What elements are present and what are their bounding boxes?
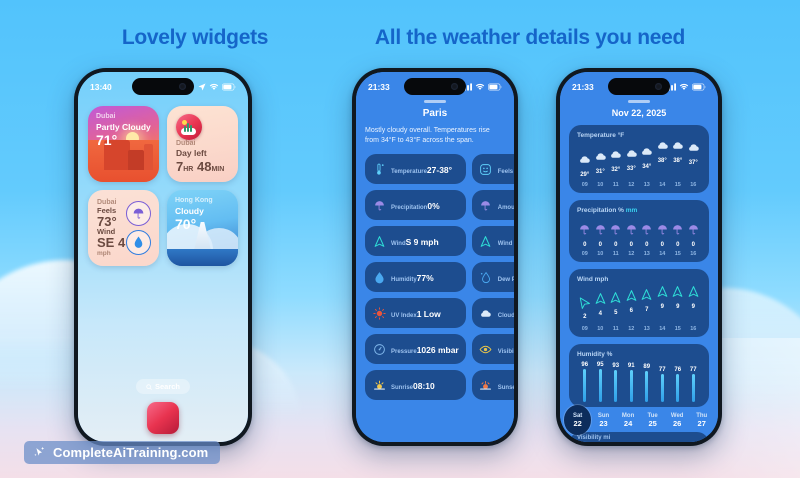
chart-value: 9 <box>692 304 695 310</box>
widget-grid: Dubai Partly Cloudy 71° Dubai <box>88 106 238 266</box>
detail-card[interactable]: Cloud Cover79% <box>472 298 514 328</box>
sparkle-cursor-icon <box>32 445 47 460</box>
detail-card[interactable]: Visibility23 mi <box>472 334 514 364</box>
chart-point: 7 <box>639 288 655 313</box>
umbrella-icon <box>578 223 591 241</box>
desert-butte <box>128 150 144 170</box>
widget-value: 7HR 48MIN <box>176 159 224 174</box>
chart-point: 29° <box>577 153 593 178</box>
phone-weather-charts: 21:33 Nov 22, 2025 Temperature °F 29° 31… <box>556 68 722 446</box>
day-number: 22 <box>573 419 581 428</box>
chart-hour-axis: 0910111213141516 <box>577 326 701 332</box>
chart-point: 38° <box>670 139 686 164</box>
search-icon <box>146 384 152 390</box>
detail-card-label: Temperature <box>391 169 427 175</box>
day-chip-selected[interactable]: Sat22 <box>564 405 591 435</box>
detail-card-value: 0% <box>427 201 439 211</box>
chart-bar: 95 <box>593 362 609 402</box>
cloud-icon <box>656 139 669 157</box>
hour-tick: 15 <box>670 182 686 188</box>
chart-bar: 89 <box>639 364 655 402</box>
chart-bar: 77 <box>686 367 702 402</box>
detail-card-label: Wind <box>391 241 406 247</box>
detail-card-label: Wind Gust <box>498 241 514 247</box>
day-chip[interactable]: Thu27 <box>689 407 714 434</box>
hour-tick: 13 <box>639 182 655 188</box>
detail-card[interactable]: Temperature27-38° <box>365 154 466 184</box>
day-number: 25 <box>648 419 656 428</box>
chart-bar: 77 <box>655 367 671 402</box>
detail-card[interactable]: Sunset17:03 <box>472 370 514 400</box>
cloud-icon <box>625 147 638 165</box>
precipitation-panel[interactable]: Precipitation % mm 0 0 0 0 0 0 <box>569 200 709 262</box>
eye-icon <box>479 342 493 356</box>
detail-card-label: Cloud Cover <box>498 313 514 319</box>
sheet-grabber[interactable] <box>424 100 446 103</box>
widget-city: Dubai <box>96 113 115 120</box>
chart-value: 32° <box>611 167 620 173</box>
chart-point: 6 <box>624 289 640 314</box>
panel-title: Humidity % <box>577 351 701 358</box>
chart-point: 38° <box>655 139 671 164</box>
chart-value: 77 <box>659 367 666 373</box>
battery-icon <box>692 83 706 91</box>
chart-value: 0 <box>599 242 602 248</box>
watermark-text: CompleteAiTraining.com <box>53 445 208 460</box>
gauge-icon <box>372 342 386 356</box>
chart-value: 31° <box>596 169 605 175</box>
chart-point: 4 <box>593 292 609 317</box>
hour-tick: 14 <box>655 182 671 188</box>
wind-arrow-icon <box>594 292 607 310</box>
phone-weather-details: 21:33 Paris Mostly cloudy overall. Tempe… <box>352 68 518 446</box>
chart-value: 89 <box>643 364 650 370</box>
chart-value: 7 <box>645 307 648 313</box>
city-title: Paris <box>365 108 505 119</box>
chart-value: 0 <box>676 242 679 248</box>
chart-bar: 76 <box>670 367 686 402</box>
cloud-icon <box>687 141 700 159</box>
detail-card-label: Feels Like <box>498 169 514 175</box>
widget-dubai-feels-wind[interactable]: Dubai Feels 73° Wind SE 4 mph <box>88 190 159 266</box>
hour-tick: 14 <box>655 326 671 332</box>
chart-point: 0 <box>639 223 655 248</box>
sea-shape <box>167 249 238 266</box>
day-left-minutes: 48 <box>197 159 211 174</box>
detail-card-label: UV Index <box>391 313 417 319</box>
status-time: 13:40 <box>90 82 112 92</box>
chart-value: 38° <box>658 158 667 164</box>
weather-summary: Mostly cloudy overall. Temperatures rise… <box>365 126 505 146</box>
chart-value: 34° <box>642 164 651 170</box>
hour-tick: 16 <box>686 251 702 257</box>
cloud-icon <box>671 139 684 157</box>
umbrella-icon <box>594 223 607 241</box>
sheet-grabber[interactable] <box>628 100 650 103</box>
location-icon <box>198 83 206 91</box>
day-left-hours-unit: HR <box>183 166 193 173</box>
hour-tick: 12 <box>624 251 640 257</box>
chart-hour-axis: 0910111213141516 <box>577 251 701 257</box>
chart-value: 0 <box>645 242 648 248</box>
chart-point: 33° <box>624 147 640 172</box>
chart-value: 96 <box>581 362 588 368</box>
chart-point: 34° <box>639 145 655 170</box>
app-icon <box>176 114 202 140</box>
wind-arrow-icon <box>479 234 493 248</box>
dynamic-island <box>132 78 194 95</box>
dynamic-island <box>608 78 670 95</box>
chart-value: 91 <box>628 363 635 369</box>
chart-value: 9 <box>661 304 664 310</box>
chart-point: 0 <box>670 223 686 248</box>
day-number: 27 <box>698 419 706 428</box>
date-title: Nov 22, 2025 <box>569 108 709 118</box>
detail-card[interactable]: Wind GustS 18 mph <box>472 226 514 256</box>
detail-card[interactable]: WindS 9 mph <box>365 226 466 256</box>
stat-value: SE 4 <box>97 236 125 250</box>
chart-value: 4 <box>599 311 602 317</box>
sun-uv-icon <box>372 306 386 320</box>
detail-card-value: 27-38° <box>427 165 452 175</box>
chart-point: 32° <box>608 148 624 173</box>
chart-bar: 96 <box>577 362 593 402</box>
chart-bar: 91 <box>624 363 640 402</box>
detail-card-grid: Temperature27-38°Feels Like31°Precipitat… <box>365 154 505 400</box>
panel-title-highlight: mm <box>626 207 638 214</box>
cloud-icon <box>594 150 607 168</box>
dock-weather-app-icon[interactable] <box>147 402 179 434</box>
heading-left: Lovely widgets <box>60 26 330 50</box>
widget-dubai-partly-cloudy[interactable]: Dubai Partly Cloudy 71° <box>88 106 159 182</box>
wind-arrow-icon <box>372 234 386 248</box>
hour-tick: 10 <box>593 251 609 257</box>
dew-drop-icon <box>479 270 493 284</box>
widget-condition: Partly Cloudy <box>96 122 151 132</box>
chart-value: 95 <box>597 362 604 368</box>
umbrella-icon <box>479 198 493 212</box>
umbrella-icon <box>671 223 684 241</box>
sunrise-icon <box>372 378 386 392</box>
umbrella-icon <box>609 223 622 241</box>
chart-value: 76 <box>674 367 681 373</box>
hour-tick: 16 <box>686 326 702 332</box>
chart-value: 0 <box>583 242 586 248</box>
detail-card-value: 1 Low <box>417 309 441 319</box>
hour-tick: 09 <box>577 182 593 188</box>
search-pill[interactable]: Search <box>136 379 190 394</box>
cloud-icon <box>479 306 493 320</box>
panel-title: Wind mph <box>577 276 701 283</box>
wifi-icon <box>679 83 689 91</box>
day-left-minutes-unit: MIN <box>211 166 224 173</box>
day-chip[interactable]: Mon24 <box>616 407 641 434</box>
detail-card-label: Sunrise <box>391 385 413 391</box>
cloud-icon <box>609 148 622 166</box>
dynamic-island <box>404 78 466 95</box>
chart-point: 5 <box>608 291 624 316</box>
hour-tick: 14 <box>655 251 671 257</box>
chart-point: 37° <box>686 141 702 166</box>
umbrella-icon <box>126 201 151 226</box>
water-drop-icon <box>372 270 386 284</box>
day-chip[interactable]: Tue25 <box>640 407 665 434</box>
stat-unit: mph <box>97 250 125 257</box>
chart-value: 77 <box>690 367 697 373</box>
detail-card-value: 08:10 <box>413 381 435 391</box>
wifi-icon <box>475 83 485 91</box>
umbrella-icon <box>687 223 700 241</box>
chart-value: 29° <box>580 172 589 178</box>
battery-icon <box>488 83 502 91</box>
chart-point: 9 <box>670 285 686 310</box>
hour-tick: 10 <box>593 182 609 188</box>
chart-point: 0 <box>577 223 593 248</box>
chart-point: 0 <box>608 223 624 248</box>
hour-tick: 12 <box>624 182 640 188</box>
hour-tick: 11 <box>608 326 624 332</box>
umbrella-icon <box>625 223 638 241</box>
chart-value: 93 <box>612 363 619 369</box>
day-number: 26 <box>673 419 681 428</box>
widget-condition: Cloudy <box>175 206 204 216</box>
wind-arrow-icon <box>656 285 669 303</box>
detail-card-label: Pressure <box>391 349 417 355</box>
chart-point: 2 <box>577 295 593 320</box>
panel-title: Precipitation % mm <box>577 207 701 214</box>
detail-card[interactable]: UV Index1 Low <box>365 298 466 328</box>
wind-arrow-icon <box>609 291 622 309</box>
phone-home-screen: 13:40 Dubai Partly Cloudy 71° <box>74 68 252 446</box>
chart-point: 0 <box>593 223 609 248</box>
hour-tick: 09 <box>577 251 593 257</box>
chart-panel-list: Temperature °F 29° 31° 32° 33° 34° 38° <box>569 125 709 407</box>
widget-temperature: 70° <box>175 216 196 232</box>
chart-value: 33° <box>627 166 636 172</box>
wind-panel[interactable]: Wind mph 2 4 5 6 7 9 9 <box>569 269 709 337</box>
detail-card[interactable]: Amount0 mm <box>472 190 514 220</box>
day-number: 23 <box>599 419 607 428</box>
chart-point: 0 <box>686 223 702 248</box>
day-chip[interactable]: Wed26 <box>665 407 690 434</box>
widget-dubai-day-left[interactable]: Dubai Day left 7HR 48MIN <box>167 106 238 182</box>
detail-card-label: Precipitation <box>391 205 427 211</box>
detail-card-value: 77% <box>417 273 434 283</box>
chart-value: 0 <box>614 242 617 248</box>
hour-tick: 13 <box>639 251 655 257</box>
umbrella-icon <box>372 198 386 212</box>
widget-label: Day left <box>176 148 224 158</box>
hour-tick: 15 <box>670 251 686 257</box>
hour-tick: 09 <box>577 326 593 332</box>
widget-hongkong-cloudy[interactable]: Hong Kong Cloudy 70° <box>167 190 238 266</box>
detail-card[interactable]: Humidity77% <box>365 262 466 292</box>
hour-tick: 15 <box>670 326 686 332</box>
detail-card[interactable]: Dew Point31° <box>472 262 514 292</box>
detail-card-label: Humidity <box>391 277 417 283</box>
detail-card-label: Dew Point <box>498 277 514 283</box>
detail-card[interactable]: Sunrise08:10 <box>365 370 466 400</box>
hour-tick: 11 <box>608 251 624 257</box>
charts-scroll-area[interactable]: Nov 22, 2025 Temperature °F 29° 31° 32° … <box>560 98 718 442</box>
hour-tick: 12 <box>624 326 640 332</box>
wind-arrow-icon <box>625 289 638 307</box>
details-scroll-area[interactable]: Paris Mostly cloudy overall. Temperature… <box>356 98 514 442</box>
heading-right: All the weather details you need <box>360 26 700 50</box>
status-time: 21:33 <box>368 82 390 92</box>
desert-butte <box>144 144 153 170</box>
hour-tick: 16 <box>686 182 702 188</box>
battery-icon <box>222 83 236 91</box>
chart-value: 37° <box>689 160 698 166</box>
water-drop-icon <box>126 230 151 255</box>
detail-card-value: S 9 mph <box>406 237 439 247</box>
chart-value: 0 <box>692 242 695 248</box>
wind-arrow-icon <box>671 285 684 303</box>
detail-card-label: Amount <box>498 205 514 211</box>
chart-point: 9 <box>655 285 671 310</box>
wind-arrow-icon <box>640 288 653 306</box>
widget-temperature: 71° <box>96 132 117 148</box>
chart-hour-axis: 0910111213141516 <box>577 182 701 188</box>
chart-value: 0 <box>630 242 633 248</box>
panel-title: Temperature °F <box>577 132 701 139</box>
chart-value: 0 <box>661 242 664 248</box>
hour-tick: 11 <box>608 182 624 188</box>
face-icon <box>479 162 493 176</box>
day-number: 24 <box>624 419 632 428</box>
detail-card[interactable]: Pressure1026 mbar <box>365 334 466 364</box>
detail-card-label: Sunset <box>498 385 514 391</box>
chart-value: 38° <box>673 158 682 164</box>
hour-tick: 13 <box>639 326 655 332</box>
day-selector[interactable]: Sat22Sun23Mon24Tue25Wed26Thu27 <box>560 398 718 442</box>
cloud-icon <box>640 145 653 163</box>
chart-point: 31° <box>593 150 609 175</box>
chart-point: 9 <box>686 285 702 310</box>
thermometer-icon <box>372 162 386 176</box>
detail-card-value: 1026 mbar <box>417 345 459 355</box>
chart-point: 0 <box>655 223 671 248</box>
widget-city: Hong Kong <box>175 197 213 204</box>
chart-value: 9 <box>676 304 679 310</box>
watermark: CompleteAiTraining.com <box>24 441 220 464</box>
wind-arrow-icon <box>687 285 700 303</box>
detail-card[interactable]: Feels Like31° <box>472 154 514 184</box>
chart-bar: 93 <box>608 363 624 402</box>
search-label: Search <box>155 382 180 391</box>
day-chip[interactable]: Sun23 <box>591 407 616 434</box>
chart-value: 5 <box>614 310 617 316</box>
umbrella-icon <box>656 223 669 241</box>
temperature-panel[interactable]: Temperature °F 29° 31° 32° 33° 34° 38° <box>569 125 709 193</box>
chart-point: 0 <box>624 223 640 248</box>
hour-tick: 10 <box>593 326 609 332</box>
sunset-icon <box>479 378 493 392</box>
detail-card[interactable]: Precipitation0% <box>365 190 466 220</box>
wifi-icon <box>209 83 219 91</box>
widget-city: Dubai <box>97 199 117 206</box>
widget-city: Dubai <box>176 140 224 147</box>
detail-card-label: Visibility <box>498 349 514 355</box>
umbrella-icon <box>640 223 653 241</box>
chart-value: 6 <box>630 308 633 314</box>
cloud-icon <box>578 153 591 171</box>
status-time: 21:33 <box>572 82 594 92</box>
